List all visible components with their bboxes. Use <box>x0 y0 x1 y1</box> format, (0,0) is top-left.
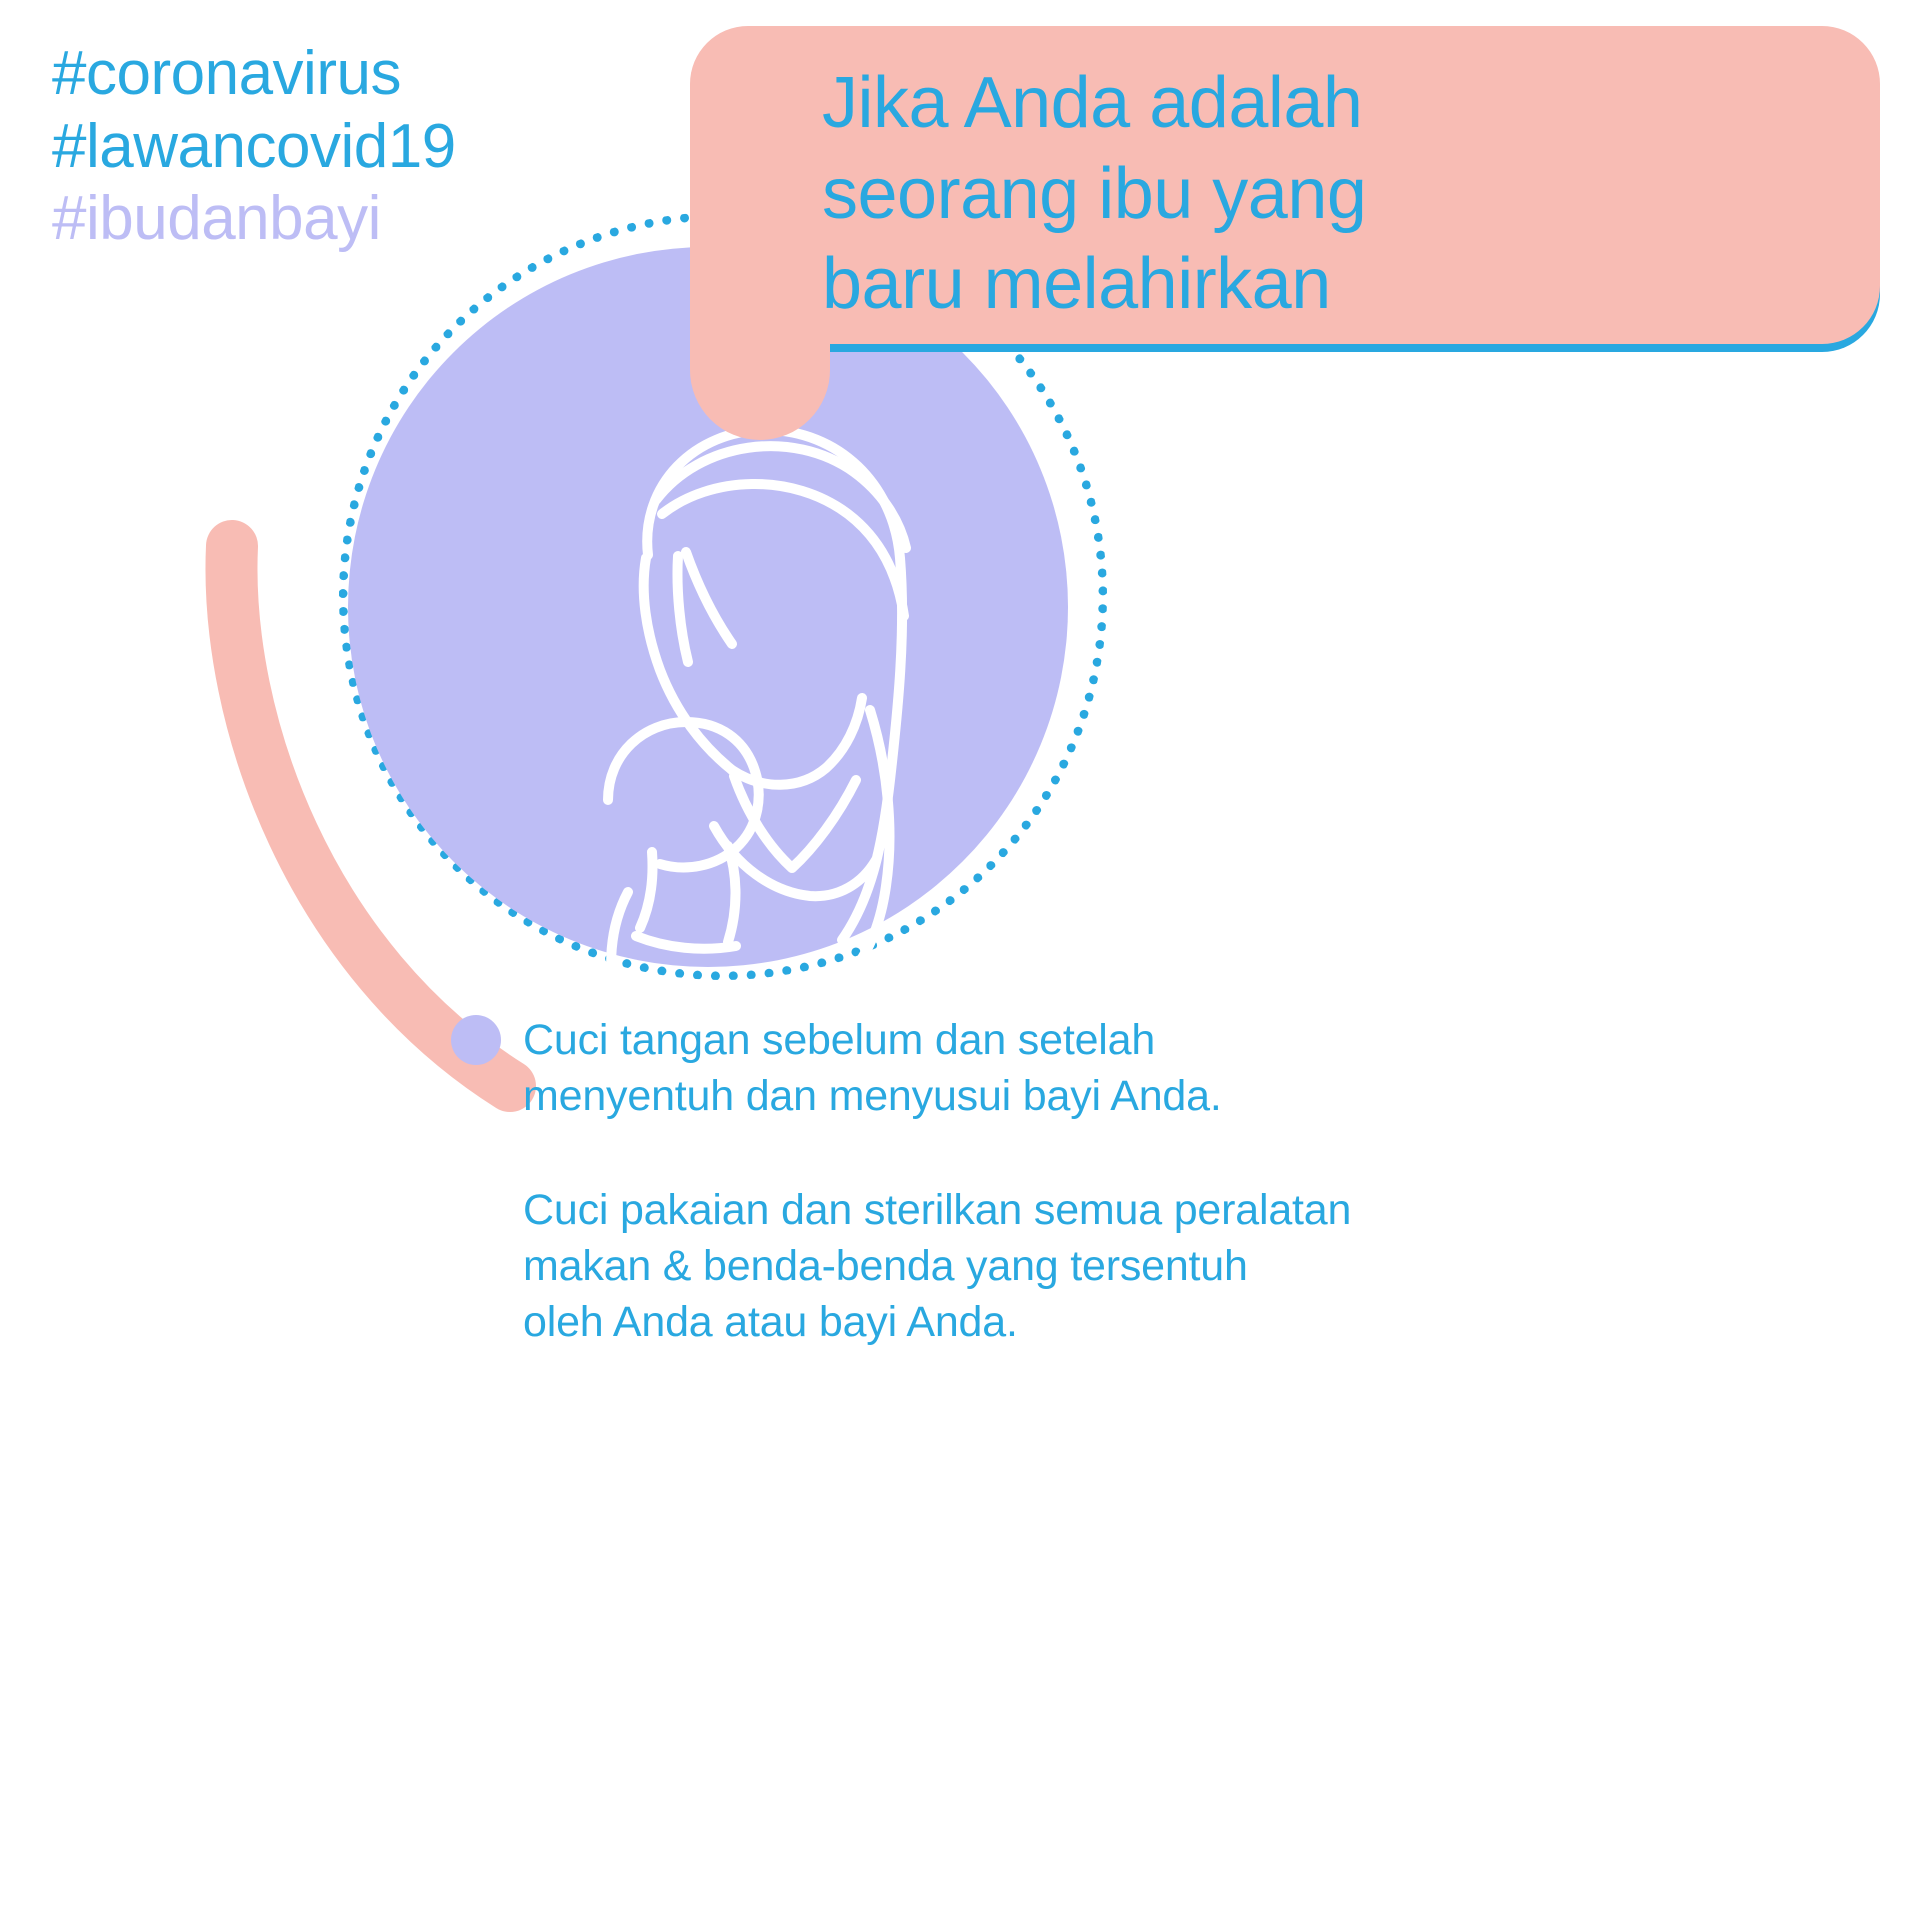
mother-and-baby-icon <box>470 380 960 980</box>
hashtag-group: #coronavirus #lawancovid19 #ibudanbayi <box>52 38 456 256</box>
tip-paragraph-sterilize: Cuci pakaian dan sterilkan semua peralat… <box>523 1183 1523 1351</box>
tip-paragraph-wash-hands: Cuci tangan sebelum dan setelah menyentu… <box>523 1013 1523 1125</box>
tip-2-line-3: oleh Anda atau bayi Anda. <box>523 1295 1523 1351</box>
hashtag-coronavirus[interactable]: #coronavirus <box>52 38 456 111</box>
speech-bubble: Jika Anda adalah seorang ibu yang baru m… <box>676 20 1920 470</box>
hashtag-ibudanbayi[interactable]: #ibudanbayi <box>52 183 456 256</box>
body-copy: Cuci tangan sebelum dan setelah menyentu… <box>523 1013 1523 1350</box>
tip-2-line-1: Cuci pakaian dan sterilkan semua peralat… <box>523 1183 1523 1239</box>
tip-1-line-2: menyentuh dan menyusui bayi Anda. <box>523 1069 1523 1125</box>
tip-1-line-1: Cuci tangan sebelum dan setelah <box>523 1013 1523 1069</box>
speech-bubble-line-2: seorang ibu yang <box>822 149 1862 240</box>
speech-bubble-text: Jika Anda adalah seorang ibu yang baru m… <box>822 58 1862 330</box>
speech-bubble-line-1: Jika Anda adalah <box>822 58 1862 149</box>
speech-bubble-line-3: baru melahirkan <box>822 239 1862 330</box>
bullet-dot-marker <box>451 1015 501 1065</box>
poster-canvas: #coronavirus #lawancovid19 #ibudanbayi <box>0 0 1920 1919</box>
hashtag-lawancovid19[interactable]: #lawancovid19 <box>52 111 456 184</box>
tip-2-line-2: makan & benda-benda yang tersentuh <box>523 1239 1523 1295</box>
